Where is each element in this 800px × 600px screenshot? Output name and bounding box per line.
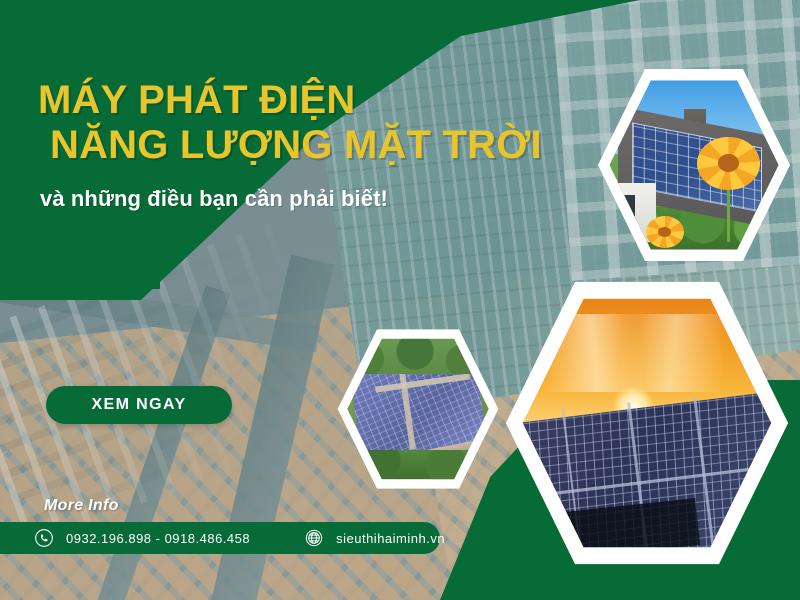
phone-number: 0932.196.898 - 0918.486.458 bbox=[66, 531, 250, 546]
hex-house-solar-image bbox=[608, 77, 780, 253]
xem-ngay-button[interactable]: XEM NGAY bbox=[46, 386, 232, 424]
sunflower-secondary bbox=[646, 216, 684, 248]
headline-line-1: MÁY PHÁT ĐIỆN bbox=[38, 78, 468, 123]
website-url: sieuthihaiminh.vn bbox=[336, 531, 445, 546]
phone-contact[interactable]: 0932.196.898 - 0918.486.458 bbox=[34, 528, 250, 548]
rooftop-solar-photo bbox=[608, 77, 780, 253]
headline-block: MÁY PHÁT ĐIỆN NĂNG LƯỢNG MẶT TRỜI và nhữ… bbox=[38, 78, 468, 212]
hex-solar-sunset-image bbox=[520, 294, 773, 553]
more-info-label: More Info bbox=[44, 497, 119, 515]
contact-bar: 0932.196.898 - 0918.486.458 sieuthihaimi… bbox=[0, 522, 440, 554]
aerial-solar-farm-photo bbox=[346, 336, 490, 482]
solar-promo-banner: MÁY PHÁT ĐIỆN NĂNG LƯỢNG MẶT TRỜI và nhữ… bbox=[0, 0, 800, 600]
hex-solar-farm-image bbox=[346, 336, 490, 482]
subheadline: và những điều bạn cần phải biết! bbox=[40, 186, 468, 212]
globe-icon bbox=[304, 528, 324, 548]
website-contact[interactable]: sieuthihaiminh.vn bbox=[304, 528, 445, 548]
phone-icon bbox=[34, 528, 54, 548]
headline-line-2: NĂNG LƯỢNG MẶT TRỜI bbox=[50, 123, 468, 168]
sunset-solar-array-photo bbox=[520, 294, 773, 553]
sunset-clouds bbox=[520, 314, 773, 392]
sunflower bbox=[697, 137, 759, 190]
